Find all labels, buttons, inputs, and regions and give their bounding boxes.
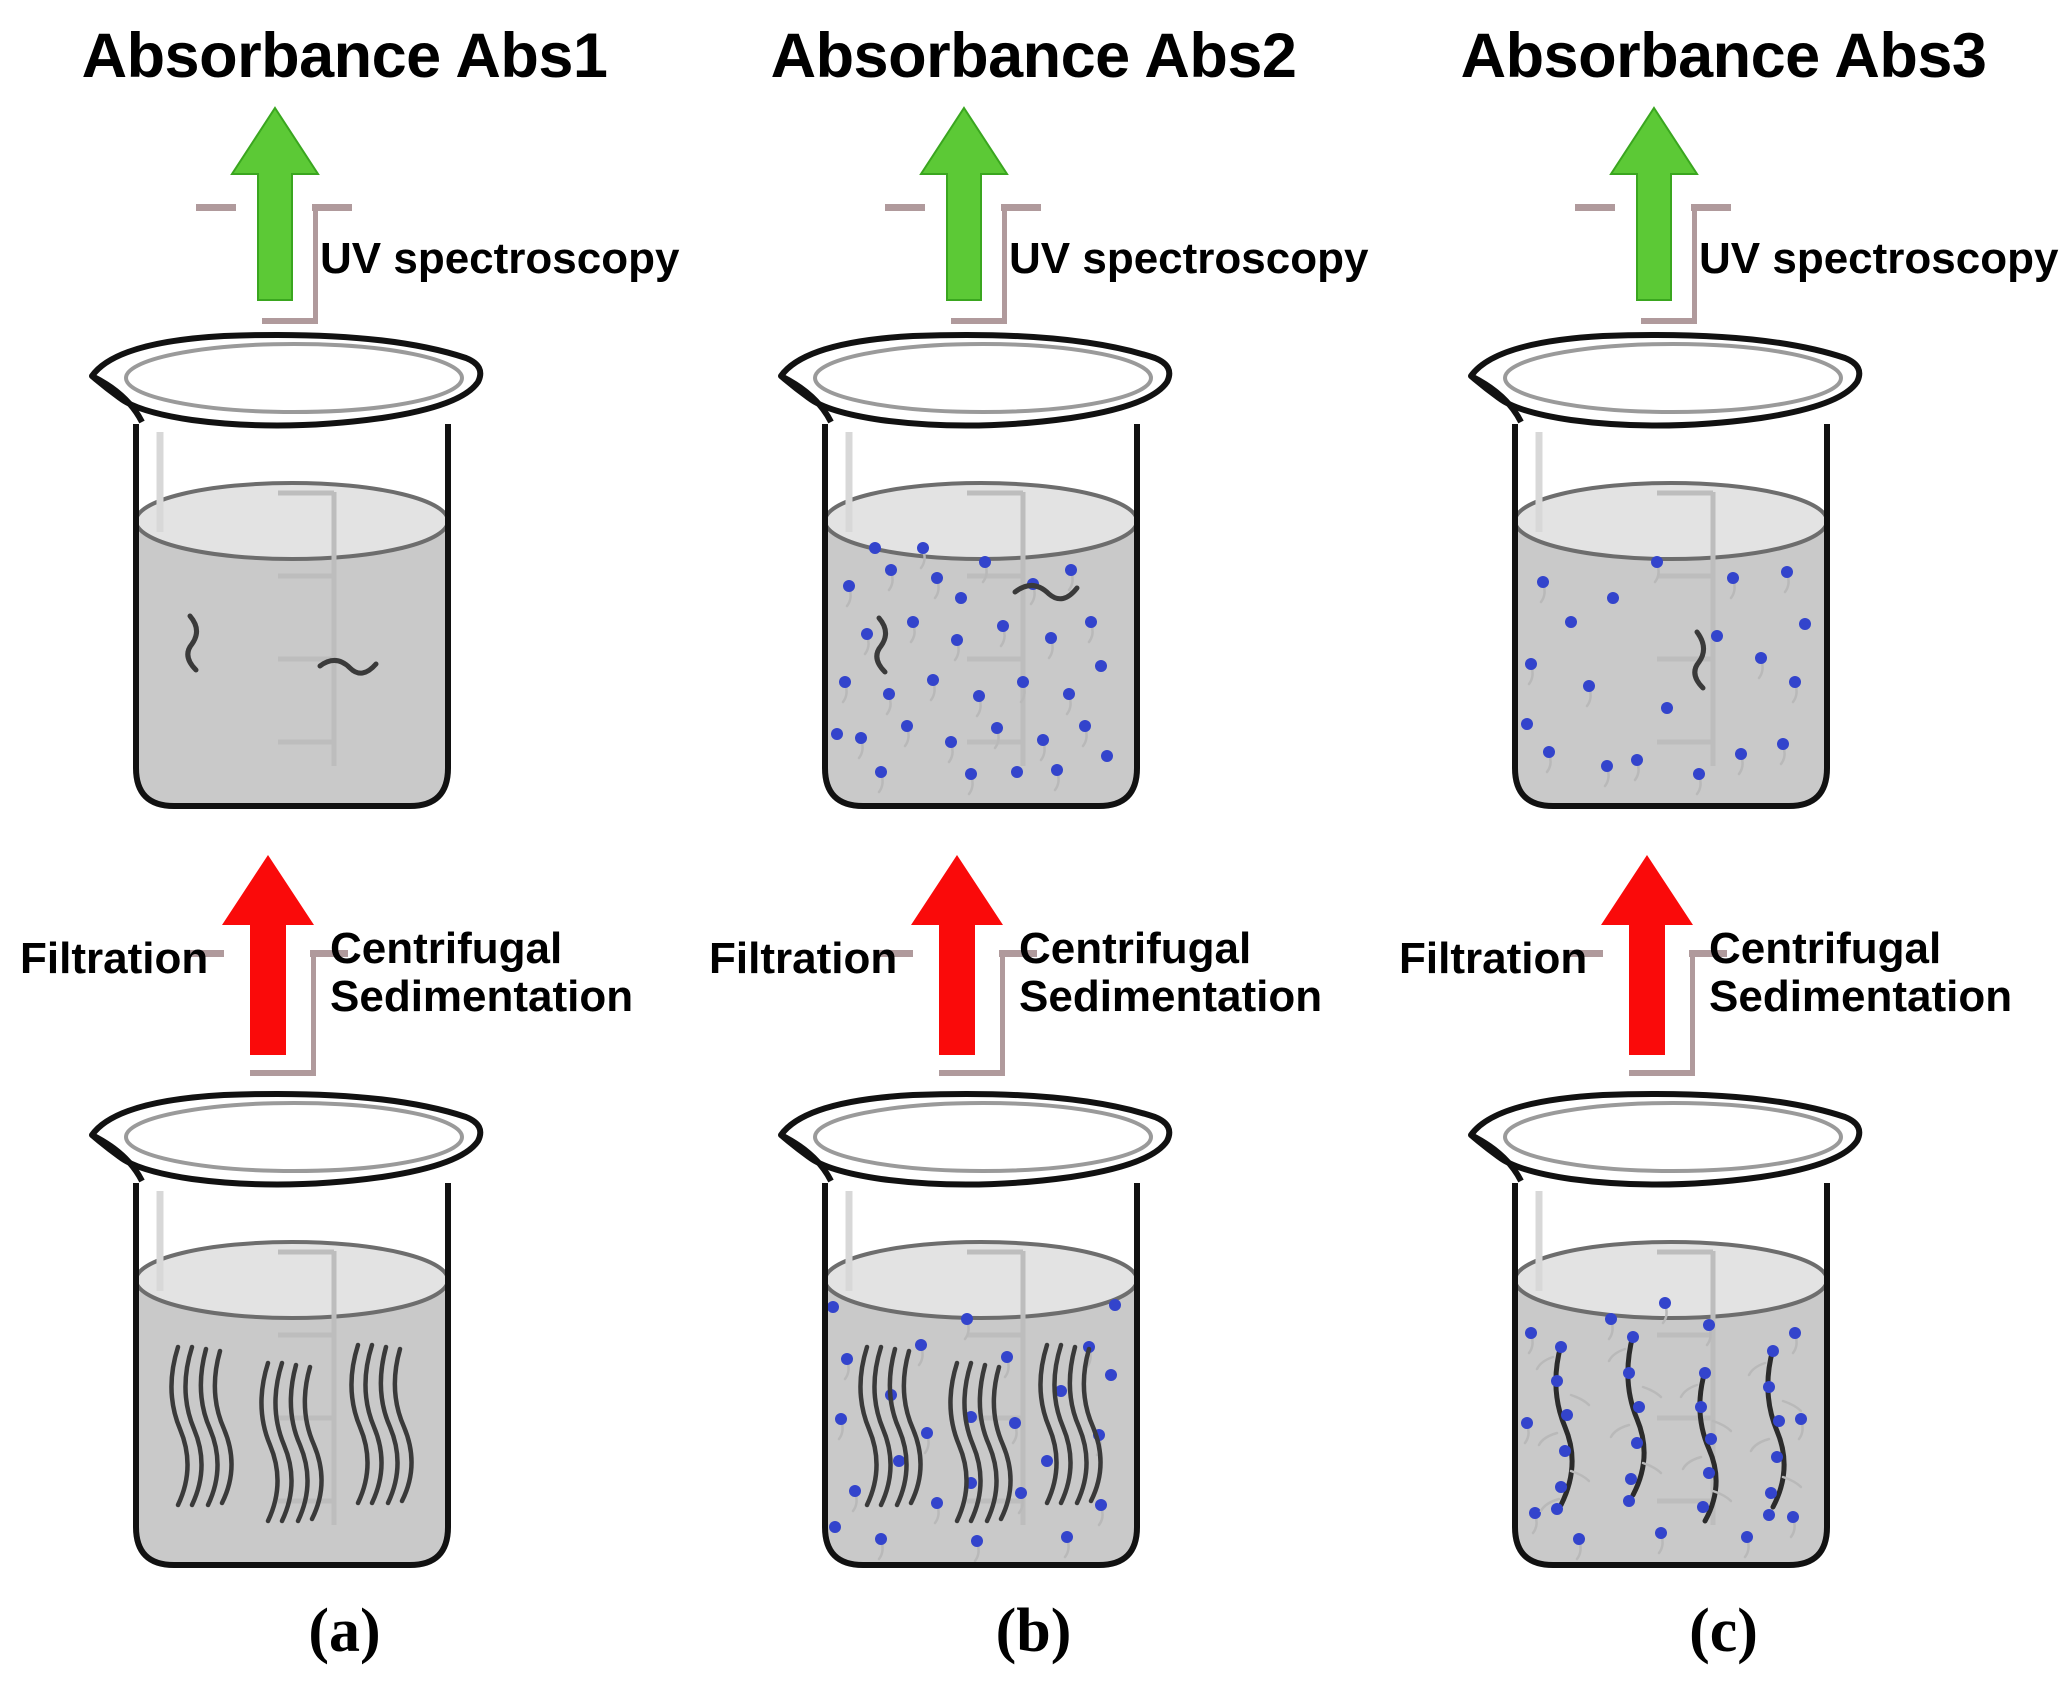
beaker-b-top (771, 336, 1191, 836)
process-up-arrow-b (911, 855, 1003, 1055)
bracket-stem-uv-a (313, 204, 318, 322)
process-up-arrow-a (222, 855, 314, 1055)
bracket-stem-process-a (311, 950, 316, 1074)
uv-spectroscopy-label-a: UV spectroscopy (320, 235, 679, 283)
beaker-a-top (82, 336, 502, 836)
beaker-a-bottom (82, 1095, 502, 1595)
bracket-stem-process-c (1690, 950, 1695, 1074)
panel-b-heading: Absorbance Abs2 (689, 20, 1378, 92)
bracket-bottom-uv-b (951, 318, 1007, 324)
centrifugal-sedimentation-label-c: Centrifugal Sedimentation (1709, 925, 2059, 1020)
bracket-stem-process-b (1000, 950, 1005, 1074)
bracket-bottom-uv-c (1641, 318, 1697, 324)
centrifugal-sedimentation-label-a: Centrifugal Sedimentation (330, 925, 680, 1020)
process-up-arrow-c (1601, 855, 1693, 1055)
bracket-left-uv-a (196, 204, 236, 211)
uv-up-arrow-a (232, 108, 318, 300)
centrifugal-sedimentation-label-b: Centrifugal Sedimentation (1019, 925, 1369, 1020)
bracket-left-uv-b (885, 204, 925, 211)
filtration-label-b: Filtration (709, 935, 897, 983)
beaker-b-bottom (771, 1095, 1191, 1595)
panel-c-heading: Absorbance Abs3 (1379, 20, 2068, 92)
panel-letter-c: (c) (1379, 1596, 2068, 1667)
beaker-c-top (1461, 336, 1881, 836)
filtration-label-c: Filtration (1399, 935, 1587, 983)
bracket-right-uv-b (1001, 204, 1041, 211)
uv-up-arrow-c (1611, 108, 1697, 300)
panel-a-heading: Absorbance Abs1 (0, 20, 689, 92)
bracket-bottom-process-b (939, 1070, 1005, 1076)
bracket-right-uv-c (1691, 204, 1731, 211)
bracket-bottom-process-a (250, 1070, 316, 1076)
panel-a: Absorbance Abs1 UV spectroscopy (0, 0, 689, 1686)
beaker-c-bottom (1461, 1095, 1881, 1595)
uv-spectroscopy-label-c: UV spectroscopy (1699, 235, 2058, 283)
bracket-stem-uv-b (1002, 204, 1007, 322)
filtration-label-a: Filtration (20, 935, 208, 983)
bracket-left-uv-c (1575, 204, 1615, 211)
panel-b: Absorbance Abs2 UV spectroscopy (689, 0, 1378, 1686)
uv-spectroscopy-label-b: UV spectroscopy (1009, 235, 1368, 283)
bracket-bottom-uv-a (262, 318, 318, 324)
uv-up-arrow-b (921, 108, 1007, 300)
panel-letter-b: (b) (689, 1596, 1378, 1667)
bracket-bottom-process-c (1629, 1070, 1695, 1076)
panel-letter-a: (a) (0, 1596, 689, 1667)
bracket-right-uv-a (312, 204, 352, 211)
panel-c: Absorbance Abs3 UV spectroscopy (1379, 0, 2068, 1686)
bracket-stem-uv-c (1692, 204, 1697, 322)
